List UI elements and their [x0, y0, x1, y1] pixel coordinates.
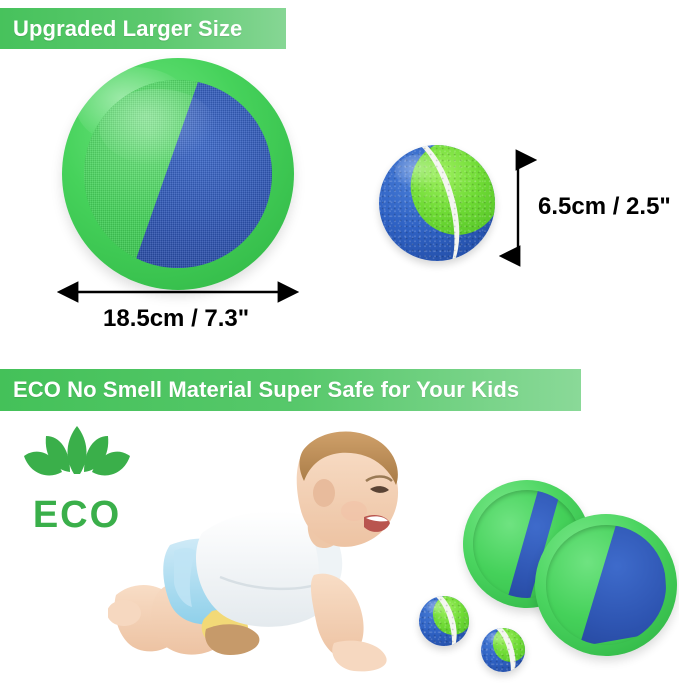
ball-main-product	[379, 145, 495, 261]
ball-height-arrow	[512, 150, 524, 266]
infographic-page: Upgraded Larger Size 18.5cm / 7.3"	[0, 0, 679, 684]
baby-ear	[313, 479, 335, 507]
product-set-group	[415, 478, 679, 684]
set-ball-right	[481, 628, 525, 672]
paddle-main-product	[62, 58, 294, 290]
baby-shoe	[205, 624, 259, 655]
baby-foot	[108, 600, 141, 626]
ball-height-label: 6.5cm / 2.5"	[538, 193, 671, 221]
banner-eco-material-text: ECO No Smell Material Super Safe for You…	[13, 377, 519, 403]
baby-hand	[332, 641, 386, 672]
paddle-face	[84, 80, 272, 268]
banner-upgraded-size: Upgraded Larger Size	[0, 8, 286, 49]
banner-upgraded-size-text: Upgraded Larger Size	[13, 16, 242, 42]
banner-eco-material: ECO No Smell Material Super Safe for You…	[0, 369, 581, 411]
set-ball-left	[419, 596, 469, 646]
crawling-baby-photo	[108, 415, 408, 680]
paddle-width-label: 18.5cm / 7.3"	[103, 305, 249, 333]
baby-cheek	[341, 501, 367, 521]
paddle-width-arrow	[66, 286, 290, 298]
